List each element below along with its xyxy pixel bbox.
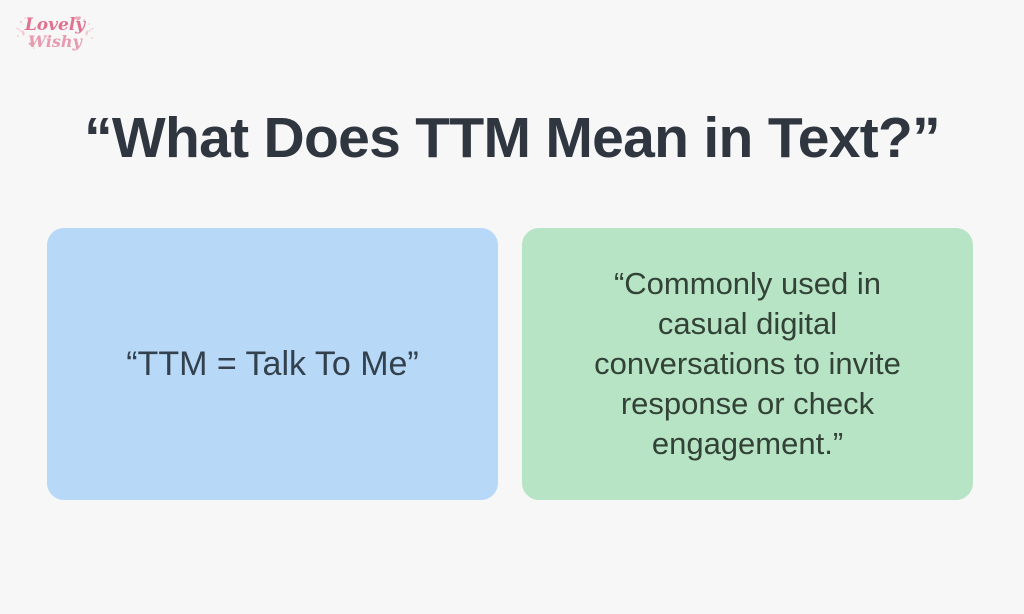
usage-card-green-text: “Commonly used in casual digital convers… <box>548 264 948 464</box>
slide-canvas: Lovely Wishy “What Does TTM Mean in Text… <box>0 0 1024 614</box>
definition-card-blue-text: “TTM = Talk To Me” <box>108 342 437 386</box>
definition-card-blue: “TTM = Talk To Me” <box>47 228 498 500</box>
usage-card-green: “Commonly used in casual digital convers… <box>522 228 973 500</box>
brand-logo: Lovely Wishy <box>12 8 98 54</box>
brand-logo-icon: Lovely Wishy <box>12 8 98 54</box>
page-title: “What Does TTM Mean in Text?” <box>0 103 1024 173</box>
brand-logo-line2: Wishy <box>28 32 83 51</box>
cards-row: “TTM = Talk To Me” “Commonly used in cas… <box>47 228 973 500</box>
